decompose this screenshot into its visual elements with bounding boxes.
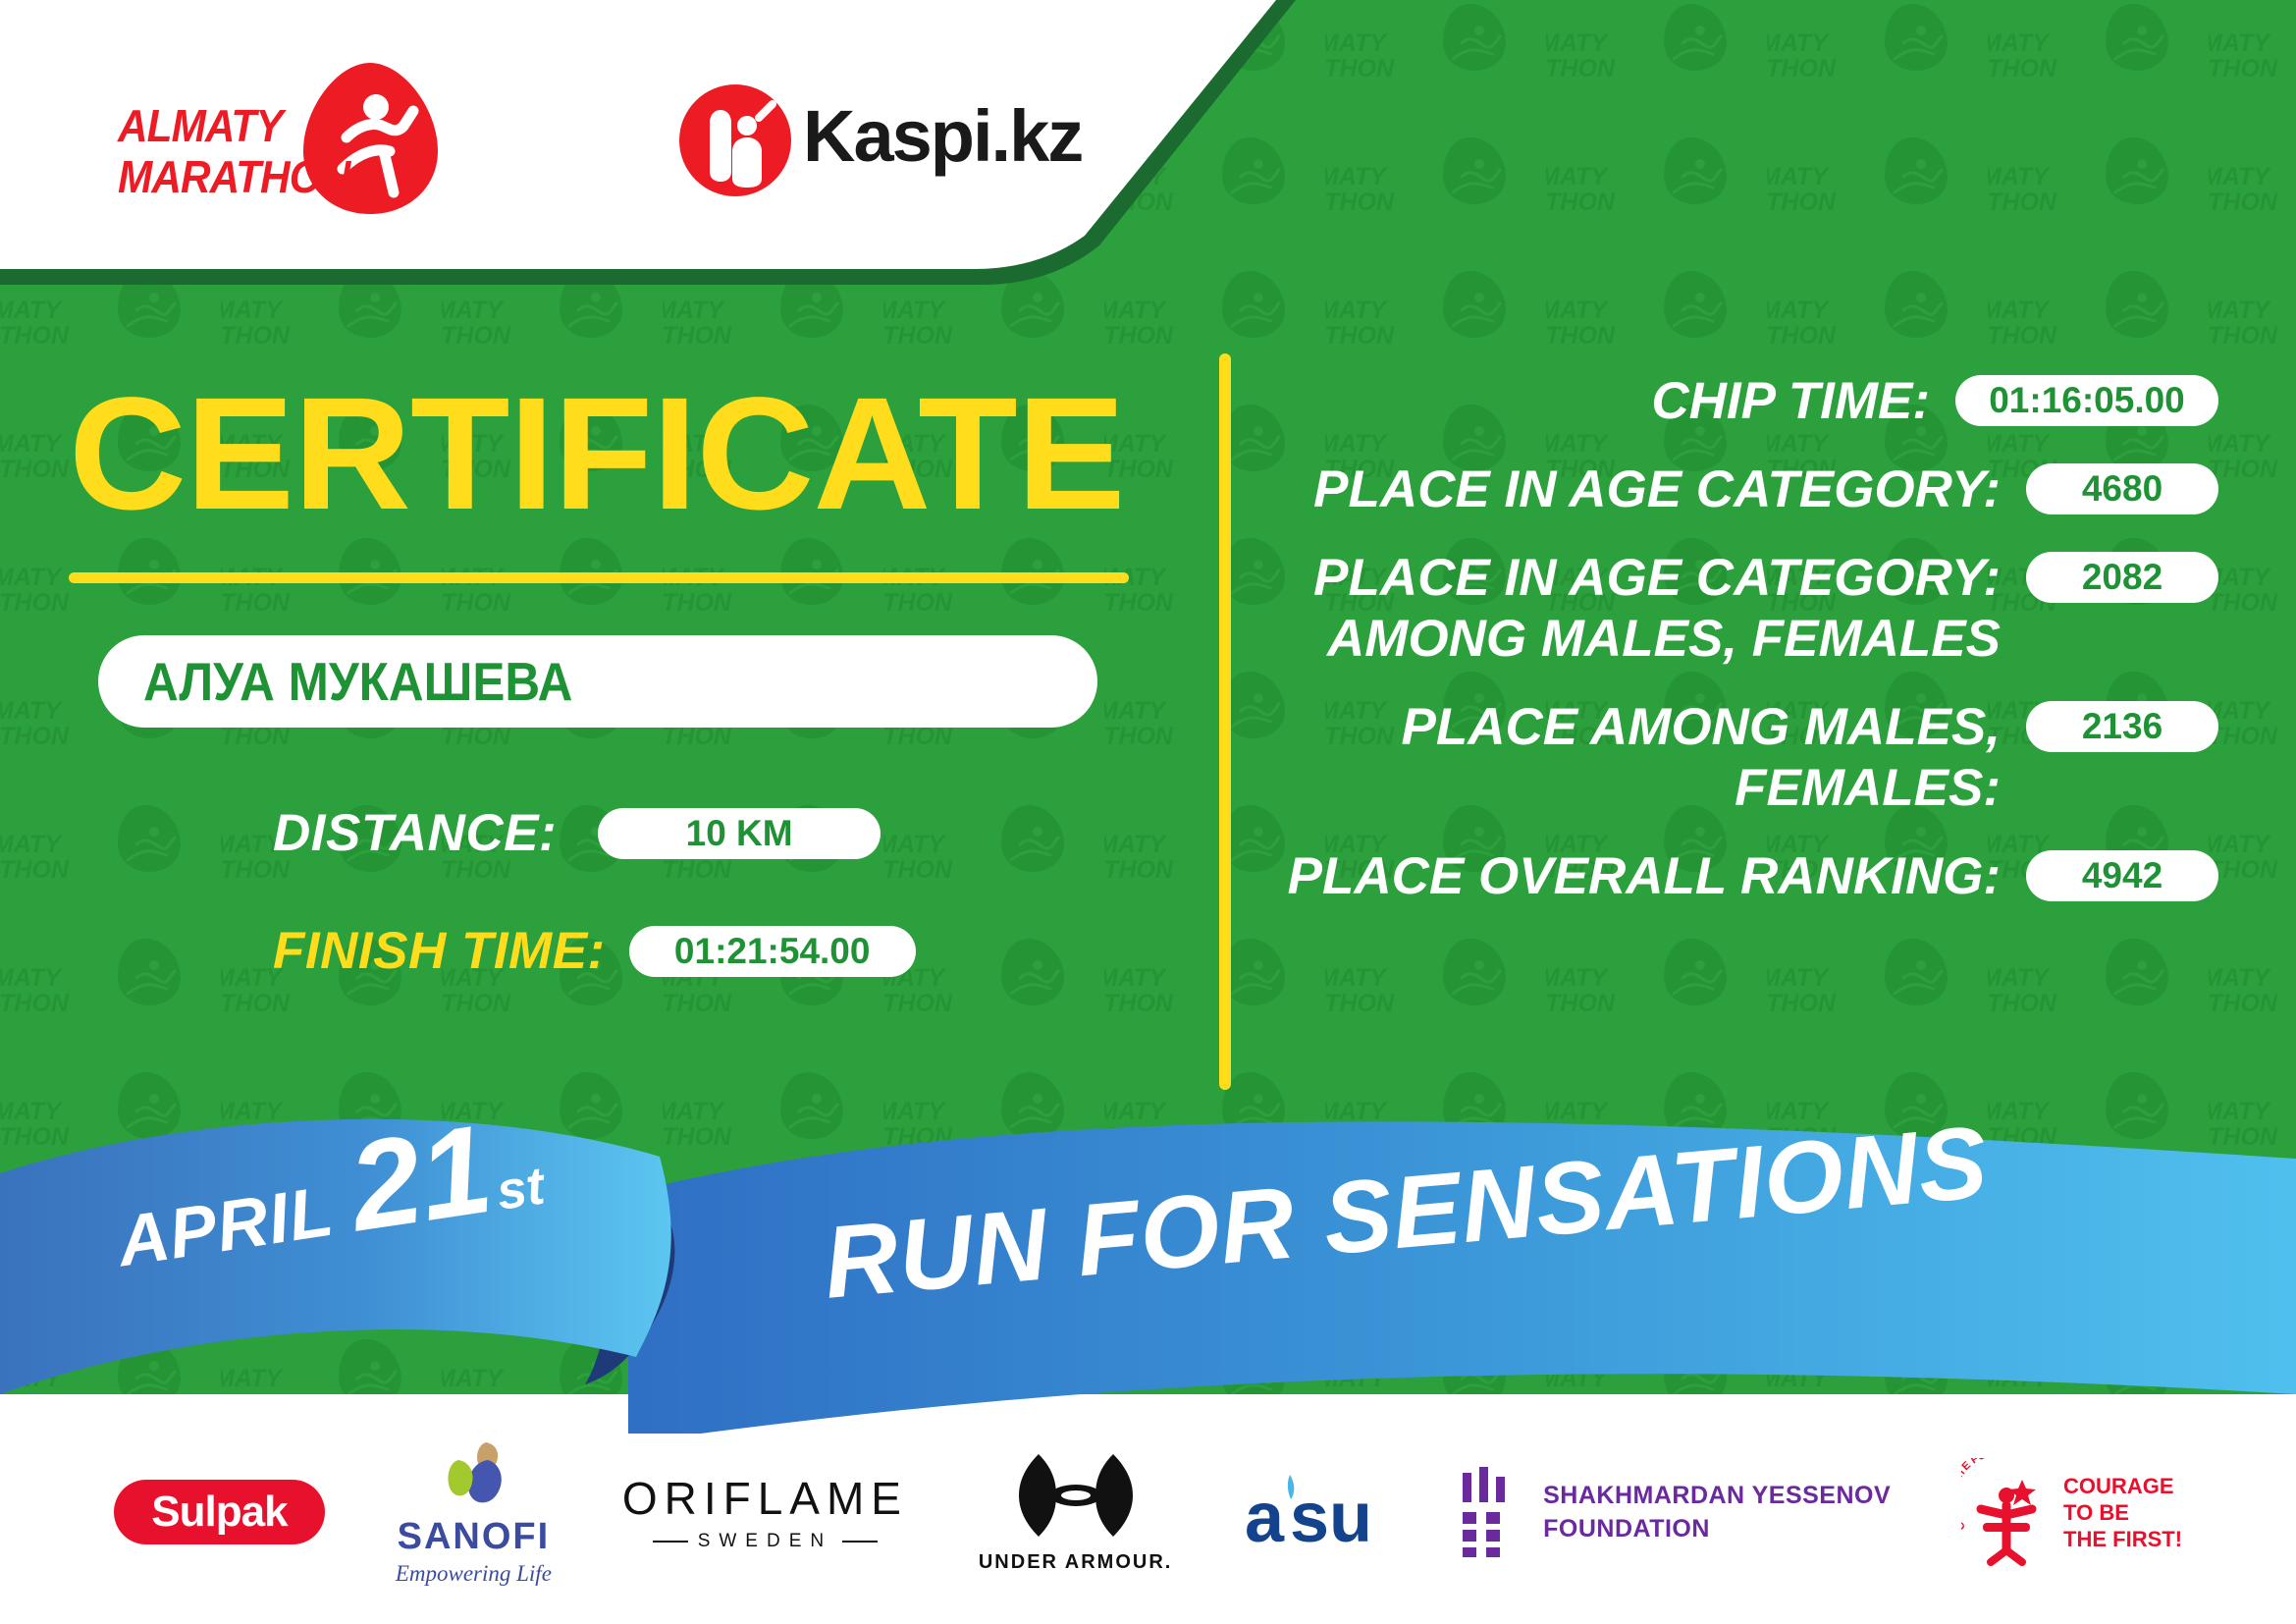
finish-time-row: FINISH TIME: 01:21:54.00 — [273, 921, 916, 981]
sponsor-logos-bar: Sulpak SANOFI Empowering Life ORIFLAME S… — [0, 1424, 2296, 1600]
results-stats-list: CHIP TIME: 01:16:05.00 PLACE IN AGE CATE… — [1276, 371, 2218, 935]
almaty-marathon-logo: ALMATY MARATHON — [118, 61, 442, 218]
svg-text:su: su — [1290, 1479, 1372, 1557]
sponsor-courage-fund: CORPORATE FUND COURAGE TO BE THE FIRST! — [1961, 1458, 2182, 1566]
oriflame-rule-right — [842, 1541, 878, 1543]
oriflame-wordmark: ORIFLAME — [622, 1472, 908, 1525]
svg-text:a: a — [1245, 1479, 1285, 1557]
finish-time-value: 01:21:54.00 — [629, 926, 916, 977]
yessenov-wordmark: SHAKHMARDAN YESSENOV FOUNDATION — [1543, 1479, 1891, 1545]
certificate-page: ALMATY MARATHON ALMATY MARATHON — [0, 0, 2296, 1624]
place-among-gender-label: PLACE AMONG MALES, FEMALES: — [1276, 697, 2026, 819]
distance-value: 10 KM — [598, 808, 881, 859]
sponsor-under-armour: UNDER ARMOUR. — [979, 1450, 1172, 1574]
oriflame-subtitle: SWEDEN — [698, 1531, 832, 1552]
distance-label: DISTANCE: — [273, 803, 557, 863]
courage-runner-icon: CORPORATE FUND — [1961, 1458, 2052, 1566]
place-overall-value: 4942 — [2026, 850, 2218, 901]
participant-name-field: АЛУА МУКАШЕВА — [98, 635, 1097, 728]
kaspi-people-icon — [677, 82, 793, 198]
yessenov-bars-icon — [1461, 1467, 1522, 1557]
event-day-suffix: st — [493, 1155, 549, 1221]
sponsor-sulpak: Sulpak — [114, 1480, 325, 1544]
courage-wordmark: COURAGE TO BE THE FIRST! — [2063, 1473, 2182, 1552]
chip-time-label: CHIP TIME: — [1276, 371, 1955, 432]
sponsor-asu: a su — [1243, 1465, 1390, 1559]
svg-text:CORPORATE FUND: CORPORATE FUND — [1961, 1458, 2002, 1533]
place-overall-label: PLACE OVERALL RANKING: — [1276, 846, 2026, 907]
courage-line-1: COURAGE — [2063, 1473, 2182, 1499]
finish-time-label: FINISH TIME: — [273, 921, 606, 981]
event-day: 21 — [344, 1115, 498, 1243]
stat-row-place-age-category: PLACE IN AGE CATEGORY: 4680 — [1276, 460, 2218, 520]
page-title: CERTIFICATE — [69, 373, 1125, 533]
sanofi-wordmark: SANOFI — [396, 1516, 552, 1558]
vertical-divider — [1219, 353, 1231, 1090]
participant-name: АЛУА МУКАШЕВА — [143, 650, 572, 713]
sponsor-yessenov-foundation: SHAKHMARDAN YESSENOV FOUNDATION — [1461, 1467, 1891, 1557]
stat-row-chip-time: CHIP TIME: 01:16:05.00 — [1276, 371, 2218, 432]
place-among-gender-value: 2136 — [2026, 701, 2218, 752]
sanofi-bird-icon — [429, 1438, 517, 1509]
under-armour-wordmark: UNDER ARMOUR. — [979, 1551, 1172, 1574]
asu-wordmark-icon: a su — [1243, 1465, 1390, 1559]
sanofi-tagline: Empowering Life — [396, 1561, 552, 1587]
courage-line-2: TO BE — [2063, 1499, 2182, 1526]
sponsor-oriflame: ORIFLAME SWEDEN — [622, 1472, 908, 1552]
sulpak-wordmark: Sulpak — [114, 1480, 325, 1544]
place-age-category-label: PLACE IN AGE CATEGORY: — [1276, 460, 2026, 520]
place-age-category-gender-label: PLACE IN AGE CATEGORY: AMONG MALES, FEMA… — [1276, 548, 2026, 670]
logo-line-marathon: MARATHON — [118, 151, 361, 202]
place-age-category-gender-value: 2082 — [2026, 552, 2218, 603]
distance-row: DISTANCE: 10 KM — [273, 803, 881, 863]
place-age-category-value: 4680 — [2026, 463, 2218, 514]
almaty-marathon-wordmark: ALMATY MARATHON — [118, 100, 383, 202]
sponsor-sanofi: SANOFI Empowering Life — [396, 1438, 552, 1587]
stat-row-place-overall: PLACE OVERALL RANKING: 4942 — [1276, 846, 2218, 907]
oriflame-subtitle-row: SWEDEN — [622, 1531, 908, 1552]
stat-row-place-among-gender: PLACE AMONG MALES, FEMALES: 2136 — [1276, 697, 2218, 819]
chip-time-value: 01:16:05.00 — [1955, 375, 2218, 426]
kaspi-wordmark: Kaspi.kz — [803, 94, 1082, 178]
title-underline — [69, 572, 1129, 583]
logo-line-almaty: ALMATY — [118, 100, 361, 151]
under-armour-icon — [1013, 1450, 1139, 1541]
courage-line-3: THE FIRST! — [2063, 1526, 2182, 1552]
yessenov-line-2: FOUNDATION — [1543, 1512, 1891, 1545]
yessenov-line-1: SHAKHMARDAN YESSENOV — [1543, 1479, 1891, 1512]
stat-row-place-age-category-gender: PLACE IN AGE CATEGORY: AMONG MALES, FEMA… — [1276, 548, 2218, 670]
kaspi-logo: Kaspi.kz — [677, 77, 1090, 204]
oriflame-rule-left — [653, 1541, 688, 1543]
